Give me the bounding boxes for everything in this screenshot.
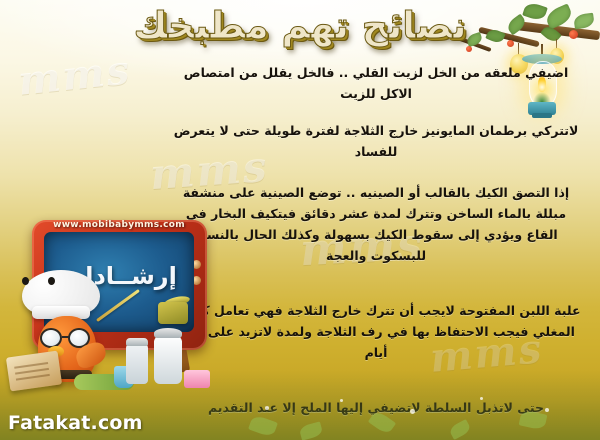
poster-canvas: mms mms mms mms نصائح تهم مط — [0, 0, 600, 440]
site-url-label: www.mobibabymms.com — [34, 220, 204, 230]
tip-item: حتى لاتذبل السلطة لاتضيفي إليها الملح إل… — [170, 397, 582, 418]
leaf-icon — [448, 419, 472, 440]
tip-item: علبة اللبن المفتوحة لايجب أن تترك خارج ا… — [170, 300, 582, 363]
footer-watermark: Fatakat.com — [8, 412, 143, 434]
spice-jar-cap — [126, 338, 148, 346]
tip-item: لاتتركي برطمان المايونيز خارج الثلاجة لف… — [170, 120, 582, 162]
eye-pupil-left — [22, 277, 29, 285]
canister-lid — [154, 328, 182, 338]
tin-can-icon — [158, 302, 188, 324]
leaf-icon — [299, 421, 324, 440]
eye-pupil-right — [48, 277, 55, 285]
spice-jar-icon — [126, 344, 148, 384]
tip-item: اضيفي ملعقه من الخل لزيت القلي .. فالخل … — [170, 62, 582, 104]
page-title: نصائح تهم مطبخك — [123, 4, 476, 48]
background-watermark-1: mms — [16, 46, 133, 105]
pointer-stick-icon — [96, 289, 140, 322]
tv-chef-illustration: www.mobibabymms.com إرشــادات — [8, 214, 220, 394]
tip-item: إذا التصق الكيك بالقالب أو الصينيه .. تو… — [170, 182, 582, 266]
book-line — [16, 374, 50, 381]
glasses-bridge — [62, 336, 70, 338]
book-icon — [6, 351, 62, 392]
tips-list: اضيفي ملعقه من الخل لزيت القلي .. فالخل … — [170, 62, 582, 418]
canister-icon — [154, 336, 182, 384]
pink-box-icon — [184, 370, 210, 388]
title-area: نصائح تهم مطبخك — [0, 4, 600, 48]
glasses-lens-left — [40, 328, 62, 348]
